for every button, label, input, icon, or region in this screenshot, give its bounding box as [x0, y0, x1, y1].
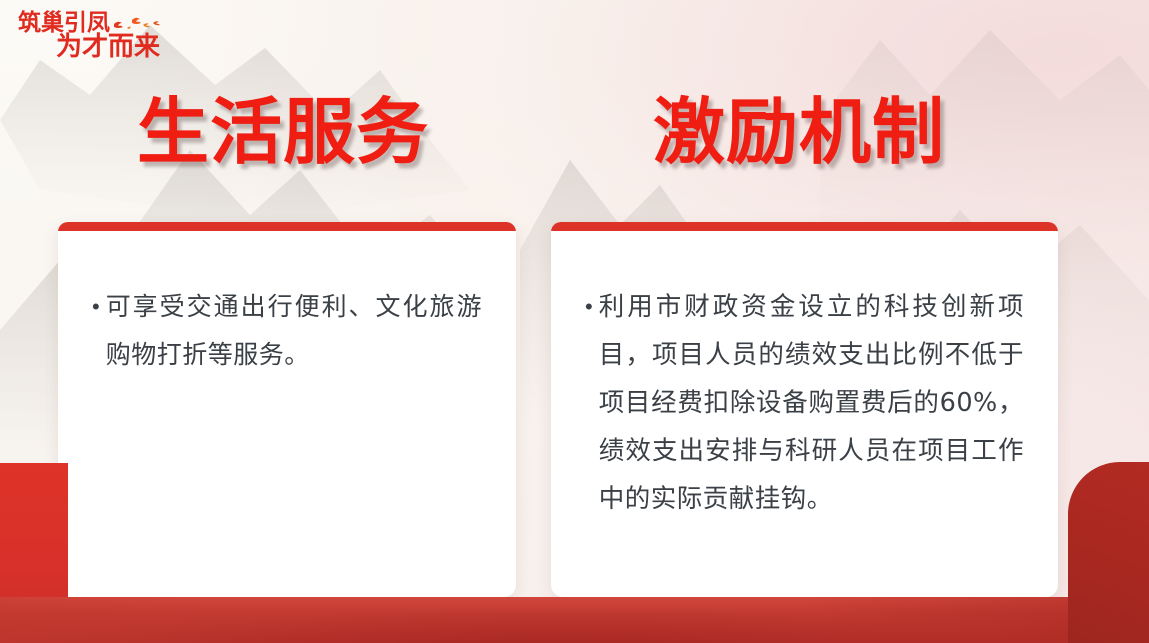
bullet-marker: • [585, 283, 593, 331]
card-top-accent-bar-left [58, 222, 516, 231]
column-heading-right: 激励机制 [653, 96, 945, 168]
slide-canvas: 筑巢引凤 为才而来 生活服务 激励机制 • 可享受交通出行便利、文化旅游购物打折… [0, 0, 1149, 643]
bullet-item: • 利用市财政资金设立的科技创新项目，项目人员的绩效支出比例不低于项目经费扣除设… [585, 283, 1024, 523]
card-body-left: • 可享受交通出行便利、文化旅游购物打折等服务。 [58, 231, 516, 597]
bullet-item: • 可享受交通出行便利、文化旅游购物打折等服务。 [92, 283, 482, 379]
card-body-right: • 利用市财政资金设立的科技创新项目，项目人员的绩效支出比例不低于项目经费扣除设… [551, 231, 1058, 597]
flying-birds-icon [108, 14, 168, 36]
logo-line-2: 为才而来 [56, 34, 160, 60]
bullet-text: 可享受交通出行便利、文化旅游购物打折等服务。 [106, 283, 482, 379]
bottom-right-red-block [1068, 462, 1149, 643]
bullet-text: 利用市财政资金设立的科技创新项目，项目人员的绩效支出比例不低于项目经费扣除设备购… [599, 283, 1024, 523]
card-top-accent-bar-right [551, 222, 1058, 231]
bottom-red-band [0, 597, 1149, 643]
content-card-right: • 利用市财政资金设立的科技创新项目，项目人员的绩效支出比例不低于项目经费扣除设… [551, 222, 1058, 597]
brand-logo: 筑巢引凤 为才而来 [12, 6, 192, 62]
bullet-marker: • [92, 283, 100, 331]
column-heading-left: 生活服务 [137, 96, 429, 168]
content-card-left: • 可享受交通出行便利、文化旅游购物打折等服务。 [58, 222, 516, 597]
